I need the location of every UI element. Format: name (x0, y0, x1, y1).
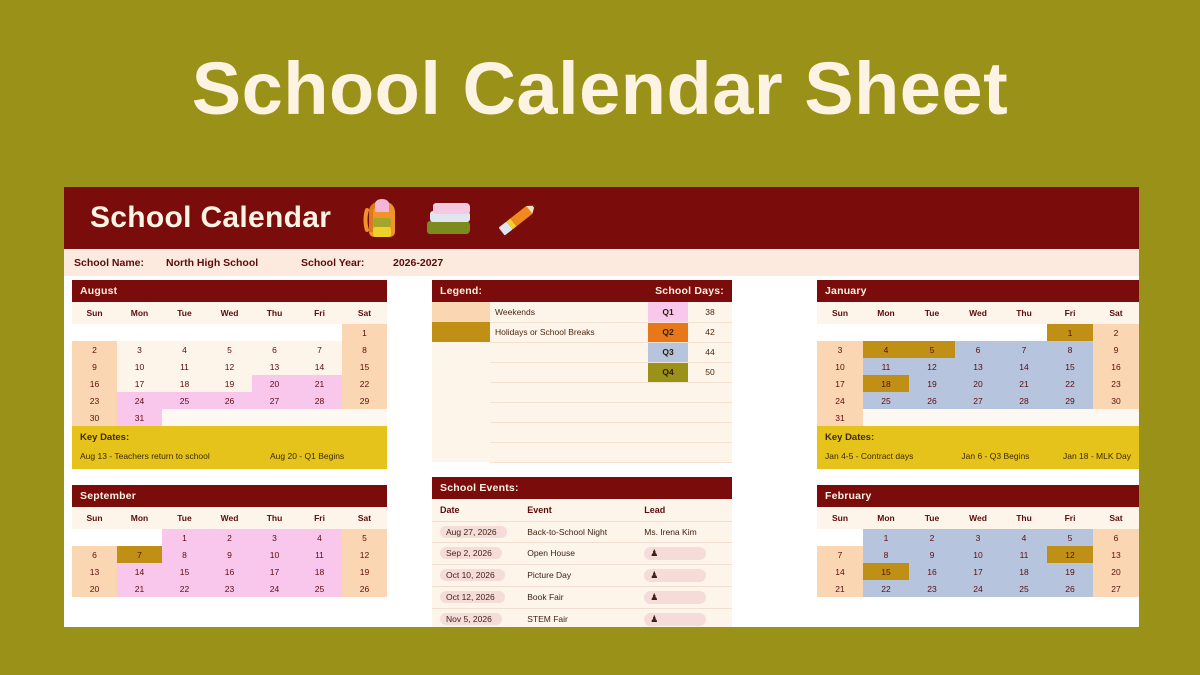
calendar-day-cell[interactable]: 16 (207, 563, 252, 580)
event-date[interactable]: Aug 27, 2026 (432, 521, 519, 542)
weekday-sat: Sat (1093, 507, 1139, 529)
month-header-august: August (72, 280, 387, 302)
date-pill: Sep 2, 2026 (440, 547, 502, 559)
calendar-week-row: 3456789 (817, 341, 1139, 358)
school-days-quarter: Q1 (648, 302, 688, 322)
legend-label (490, 402, 600, 422)
key-dates-january: Key Dates: Jan 4-5 - Contract days Jan 6… (817, 426, 1139, 469)
legend-row (432, 422, 732, 442)
calendar-day-cell[interactable]: 20 (955, 375, 1001, 392)
calendar-january[interactable]: SunMonTueWedThuFriSat 123456789101112131… (817, 302, 1139, 426)
weekday-header-row: SunMonTueWedThuFriSat (72, 507, 387, 529)
calendar-day-cell[interactable]: 30 (72, 409, 117, 426)
calendar-day-cell[interactable]: 1 (162, 529, 207, 546)
events-column-date: Date (432, 499, 519, 522)
calendar-day-cell[interactable]: 2 (207, 529, 252, 546)
calendar-day-cell[interactable]: 14 (1001, 358, 1047, 375)
calendar-empty-cell (117, 529, 162, 546)
weekday-mon: Mon (863, 302, 909, 324)
calendar-day-cell[interactable]: 11 (162, 358, 207, 375)
calendar-empty-cell (162, 324, 207, 341)
calendar-week-row: 20212223242526 (72, 580, 387, 597)
school-days-count: 44 (688, 342, 732, 362)
calendar-empty-cell (72, 324, 117, 341)
calendar-day-cell[interactable]: 12 (909, 358, 955, 375)
weekday-wed: Wed (955, 302, 1001, 324)
legend-spacer (600, 402, 648, 422)
calendar-day-cell[interactable]: 16 (909, 563, 955, 580)
calendar-empty-cell (1093, 409, 1139, 426)
calendar-day-cell[interactable]: 17 (817, 375, 863, 392)
backpack-icon (361, 196, 403, 240)
calendar-day-cell[interactable]: 23 (207, 580, 252, 597)
date-pill: Oct 10, 2026 (440, 569, 505, 581)
calendar-day-cell[interactable]: 23 (909, 580, 955, 597)
school-year-value[interactable]: 2026-2027 (393, 257, 528, 269)
events-column-lead: Lead (636, 499, 732, 522)
legend-swatch (432, 342, 490, 362)
calendar-day-cell[interactable]: 20 (1093, 563, 1139, 580)
calendar-day-cell[interactable]: 17 (117, 375, 162, 392)
legend-spacer (600, 362, 648, 382)
school-events-header: School Events: (432, 477, 732, 499)
table-row[interactable]: Oct 10, 2026Picture Day♟ (432, 564, 732, 586)
legend-swatch (432, 442, 490, 462)
calendar-day-cell[interactable]: 3 (117, 341, 162, 358)
calendar-day-cell[interactable]: 17 (955, 563, 1001, 580)
calendar-day-cell[interactable]: 19 (1047, 563, 1093, 580)
calendar-day-cell[interactable]: 6 (72, 546, 117, 563)
calendar-empty-cell (1001, 324, 1047, 341)
calendar-day-cell[interactable]: 4 (1001, 529, 1047, 546)
calendar-day-cell[interactable]: 11 (863, 358, 909, 375)
legend-swatch (432, 382, 490, 402)
calendar-day-cell[interactable]: 26 (909, 392, 955, 409)
calendar-day-cell[interactable]: 8 (1047, 341, 1093, 358)
key-dates-list: Jan 4-5 - Contract days Jan 6 - Q3 Begin… (825, 451, 1131, 461)
calendar-day-cell[interactable]: 11 (1001, 546, 1047, 563)
table-row[interactable]: Oct 12, 2026Book Fair♟ (432, 586, 732, 608)
calendar-day-cell[interactable]: 24 (955, 580, 1001, 597)
calendar-day-cell[interactable]: 6 (955, 341, 1001, 358)
weekday-tue: Tue (909, 507, 955, 529)
calendar-day-cell[interactable]: 6 (1093, 529, 1139, 546)
school-days-count: 38 (688, 302, 732, 322)
school-days-quarter: Q3 (648, 342, 688, 362)
calendar-day-cell[interactable]: 18 (162, 375, 207, 392)
event-name[interactable]: Picture Day (519, 564, 636, 586)
calendar-day-cell[interactable]: 16 (1093, 358, 1139, 375)
calendar-day-cell[interactable]: 21 (297, 375, 342, 392)
calendar-day-cell[interactable]: 1 (1047, 324, 1093, 341)
event-date[interactable]: Oct 12, 2026 (432, 586, 519, 608)
legend-spacer (600, 382, 648, 402)
left-column: August SunMonTueWedThuFriSat 12345678910… (72, 280, 387, 627)
calendar-empty-cell (817, 324, 863, 341)
calendar-day-cell[interactable]: 15 (342, 358, 387, 375)
weekday-tue: Tue (162, 507, 207, 529)
school-days-quarter: Q4 (648, 362, 688, 382)
page-title: School Calendar Sheet (0, 52, 1200, 126)
weekday-tue: Tue (162, 302, 207, 324)
event-lead[interactable]: ♟ (636, 608, 732, 627)
calendar-day-cell[interactable]: 9 (1093, 341, 1139, 358)
calendar-day-cell[interactable]: 31 (817, 409, 863, 426)
date-pill: Nov 5, 2026 (440, 613, 502, 625)
lead-pill: ♟ (644, 547, 706, 560)
sheet-columns: August SunMonTueWedThuFriSat 12345678910… (64, 276, 1139, 627)
calendar-day-cell[interactable]: 18 (863, 375, 909, 392)
legend-swatch (432, 362, 490, 382)
event-lead[interactable]: Ms. Irena Kim (636, 521, 732, 542)
calendar-day-cell[interactable]: 14 (117, 563, 162, 580)
weekday-wed: Wed (207, 302, 252, 324)
calendar-empty-cell (117, 324, 162, 341)
calendar-day-cell[interactable]: 4 (297, 529, 342, 546)
calendar-day-cell[interactable]: 25 (162, 392, 207, 409)
calendar-empty-cell (909, 409, 955, 426)
calendar-week-row: 24252627282930 (817, 392, 1139, 409)
legend-spacer (600, 422, 648, 442)
table-row[interactable]: Aug 27, 2026Back-to-School NightMs. Iren… (432, 521, 732, 542)
calendar-empty-cell (252, 409, 297, 426)
calendar-day-cell[interactable]: 27 (252, 392, 297, 409)
calendar-day-cell[interactable]: 26 (207, 392, 252, 409)
calendar-day-cell[interactable]: 15 (1047, 358, 1093, 375)
school-name-label: School Name: (74, 257, 166, 269)
calendar-body: 1234567891011121314151617181920212223242… (72, 324, 387, 426)
weekday-thu: Thu (1001, 507, 1047, 529)
column-spacer (72, 469, 387, 485)
banner-icons (361, 196, 543, 240)
calendar-day-cell[interactable]: 12 (342, 546, 387, 563)
key-dates-label: Key Dates: (825, 432, 1131, 443)
calendar-empty-cell (72, 529, 117, 546)
calendar-day-cell[interactable]: 3 (252, 529, 297, 546)
month-header-january: January (817, 280, 1139, 302)
calendar-day-cell[interactable]: 13 (252, 358, 297, 375)
date-pill: Oct 12, 2026 (440, 591, 505, 603)
weekday-fri: Fri (297, 302, 342, 324)
legend-row (432, 382, 732, 402)
calendar-empty-cell (1001, 409, 1047, 426)
calendar-august[interactable]: SunMonTueWedThuFriSat 123456789101112131… (72, 302, 387, 426)
calendar-day-cell[interactable]: 2 (1093, 324, 1139, 341)
calendar-day-cell[interactable]: 10 (955, 546, 1001, 563)
calendar-empty-cell (207, 409, 252, 426)
weekday-sat: Sat (1093, 302, 1139, 324)
legend-row: Q344 (432, 342, 732, 362)
calendar-day-cell[interactable]: 21 (1001, 375, 1047, 392)
school-info-strip: School Name: North High School School Ye… (64, 249, 1139, 276)
school-days-quarter: Q2 (648, 322, 688, 342)
calendar-day-cell[interactable]: 29 (1047, 392, 1093, 409)
calendar-day-cell[interactable]: 21 (117, 580, 162, 597)
calendar-body: 1234567891011121314151617181920212223242… (72, 529, 387, 597)
legend-label (490, 422, 600, 442)
calendar-week-row: 78910111213 (817, 546, 1139, 563)
legend-spacer (600, 442, 648, 462)
calendar-day-cell[interactable]: 20 (252, 375, 297, 392)
calendar-day-cell[interactable]: 12 (207, 358, 252, 375)
calendar-empty-cell (817, 529, 863, 546)
calendar-day-cell[interactable]: 10 (117, 358, 162, 375)
calendar-day-cell[interactable]: 10 (817, 358, 863, 375)
legend-schooldays-table[interactable]: WeekendsQ138Holidays or School BreaksQ24… (432, 302, 732, 463)
school-days-count: 50 (688, 362, 732, 382)
calendar-day-cell[interactable]: 24 (817, 392, 863, 409)
legend-spacer (600, 302, 648, 322)
person-icon: ♟ (650, 570, 658, 580)
events-body: Aug 27, 2026Back-to-School NightMs. Iren… (432, 521, 732, 627)
calendar-day-cell[interactable]: 9 (207, 546, 252, 563)
calendar-week-row: 1 (72, 324, 387, 341)
calendar-day-cell[interactable]: 8 (162, 546, 207, 563)
calendar-day-cell[interactable]: 16 (72, 375, 117, 392)
calendar-day-cell[interactable]: 21 (817, 580, 863, 597)
calendar-day-cell[interactable]: 31 (117, 409, 162, 426)
month-header-september: September (72, 485, 387, 507)
school-days-quarter (648, 442, 688, 462)
events-column-event: Event (519, 499, 636, 522)
events-header-row: DateEventLead (432, 499, 732, 522)
calendar-week-row: 3031 (72, 409, 387, 426)
calendar-week-row: 6789101112 (72, 546, 387, 563)
weekday-header-row: SunMonTueWedThuFriSat (817, 507, 1139, 529)
school-days-quarter (648, 402, 688, 422)
calendar-day-cell[interactable]: 5 (1047, 529, 1093, 546)
calendar-day-cell[interactable]: 4 (162, 341, 207, 358)
calendar-day-cell[interactable]: 26 (342, 580, 387, 597)
calendar-february[interactable]: SunMonTueWedThuFriSat 123456789101112131… (817, 507, 1139, 597)
weekday-sun: Sun (817, 507, 863, 529)
calendar-day-cell[interactable]: 7 (297, 341, 342, 358)
weekday-sun: Sun (72, 302, 117, 324)
weekday-mon: Mon (117, 507, 162, 529)
table-row[interactable]: Nov 5, 2026STEM Fair♟ (432, 608, 732, 627)
calendar-day-cell[interactable]: 10 (252, 546, 297, 563)
calendar-day-cell[interactable]: 15 (863, 563, 909, 580)
legend-label (490, 382, 600, 402)
calendar-day-cell[interactable]: 28 (297, 392, 342, 409)
calendar-day-cell[interactable]: 25 (297, 580, 342, 597)
calendar-day-cell[interactable]: 22 (162, 580, 207, 597)
legend-label: Weekends (490, 302, 600, 322)
calendar-day-cell[interactable]: 24 (252, 580, 297, 597)
date-pill: Aug 27, 2026 (440, 526, 507, 538)
calendar-day-cell[interactable]: 5 (342, 529, 387, 546)
calendar-day-cell[interactable]: 6 (252, 341, 297, 358)
school-name-value[interactable]: North High School (166, 257, 301, 269)
calendar-day-cell[interactable]: 29 (342, 392, 387, 409)
calendar-day-cell[interactable]: 18 (1001, 563, 1047, 580)
legend-label (490, 442, 600, 462)
school-days-count: 42 (688, 322, 732, 342)
event-date[interactable]: Sep 2, 2026 (432, 542, 519, 564)
weekday-mon: Mon (863, 507, 909, 529)
calendar-week-row: 13141516171819 (72, 563, 387, 580)
legend-swatch (432, 322, 490, 342)
calendar-day-cell[interactable]: 3 (955, 529, 1001, 546)
calendar-week-row: 16171819202122 (72, 375, 387, 392)
school-year-label: School Year: (301, 257, 393, 269)
legend-label: Holidays or School Breaks (490, 322, 600, 342)
weekday-sun: Sun (72, 507, 117, 529)
calendar-day-cell[interactable]: 9 (72, 358, 117, 375)
school-days-count (688, 442, 732, 462)
lead-pill: ♟ (644, 591, 706, 604)
calendar-week-row: 17181920212223 (817, 375, 1139, 392)
calendar-week-row: 12345 (72, 529, 387, 546)
calendar-week-row: 31 (817, 409, 1139, 426)
calendar-day-cell[interactable]: 14 (817, 563, 863, 580)
calendar-day-cell[interactable]: 11 (297, 546, 342, 563)
calendar-body: 1234567891011121314151617181920212223242… (817, 324, 1139, 426)
calendar-day-cell[interactable]: 23 (72, 392, 117, 409)
legend-swatch (432, 302, 490, 322)
calendar-day-cell[interactable]: 15 (162, 563, 207, 580)
calendar-day-cell[interactable]: 17 (252, 563, 297, 580)
sheet-banner: School Calendar (64, 187, 1139, 249)
legend-swatch (432, 402, 490, 422)
calendar-day-cell[interactable]: 3 (817, 341, 863, 358)
calendar-day-cell[interactable]: 13 (72, 563, 117, 580)
calendar-week-row: 123456 (817, 529, 1139, 546)
calendar-empty-cell (863, 409, 909, 426)
calendar-day-cell[interactable]: 12 (1047, 546, 1093, 563)
event-date[interactable]: Oct 10, 2026 (432, 564, 519, 586)
calendar-day-cell[interactable]: 27 (955, 392, 1001, 409)
weekday-sun: Sun (817, 302, 863, 324)
event-date[interactable]: Nov 5, 2026 (432, 608, 519, 627)
calendar-day-cell[interactable]: 14 (297, 358, 342, 375)
calendar-week-row: 14151617181920 (817, 563, 1139, 580)
calendar-day-cell[interactable]: 2 (72, 341, 117, 358)
calendar-day-cell[interactable]: 18 (297, 563, 342, 580)
calendar-day-cell[interactable]: 19 (342, 563, 387, 580)
calendar-day-cell[interactable]: 7 (817, 546, 863, 563)
school-days-header: School Days: (582, 280, 732, 302)
key-date-item: Aug 13 - Teachers return to school (80, 451, 270, 461)
legend-label (490, 342, 600, 362)
calendar-day-cell[interactable]: 22 (863, 580, 909, 597)
month-header-february: February (817, 485, 1139, 507)
legend-swatch (432, 422, 490, 442)
calendar-day-cell[interactable]: 8 (342, 341, 387, 358)
pencil-icon (495, 198, 543, 238)
school-events-table[interactable]: DateEventLead Aug 27, 2026Back-to-School… (432, 499, 732, 628)
weekday-mon: Mon (117, 302, 162, 324)
calendar-week-row: 2345678 (72, 341, 387, 358)
calendar-sheet: School Calendar (64, 187, 1139, 627)
calendar-day-cell[interactable]: 1 (342, 324, 387, 341)
weekday-wed: Wed (207, 507, 252, 529)
calendar-day-cell[interactable]: 5 (207, 341, 252, 358)
legend-spacer (600, 342, 648, 362)
calendar-day-cell[interactable]: 30 (1093, 392, 1139, 409)
legend-schooldays-headers: Legend: School Days: (432, 280, 732, 302)
event-lead[interactable]: ♟ (636, 542, 732, 564)
weekday-tue: Tue (909, 302, 955, 324)
weekday-thu: Thu (252, 507, 297, 529)
calendar-day-cell[interactable]: 13 (955, 358, 1001, 375)
calendar-day-cell[interactable]: 19 (207, 375, 252, 392)
column-gap (732, 280, 817, 627)
calendar-day-cell[interactable]: 4 (863, 341, 909, 358)
key-dates-august: Key Dates: Aug 13 - Teachers return to s… (72, 426, 387, 469)
calendar-september[interactable]: SunMonTueWedThuFriSat 123456789101112131… (72, 507, 387, 597)
books-icon (425, 201, 473, 235)
legend-row (432, 442, 732, 462)
calendar-empty-cell (252, 324, 297, 341)
weekday-thu: Thu (1001, 302, 1047, 324)
key-date-item: Aug 20 - Q1 Begins (270, 451, 344, 461)
calendar-day-cell[interactable]: 23 (1093, 375, 1139, 392)
event-lead[interactable]: ♟ (636, 586, 732, 608)
person-icon: ♟ (650, 548, 658, 558)
calendar-day-cell[interactable]: 13 (1093, 546, 1139, 563)
calendar-day-cell[interactable]: 22 (342, 375, 387, 392)
event-name[interactable]: Book Fair (519, 586, 636, 608)
weekday-header-row: SunMonTueWedThuFriSat (817, 302, 1139, 324)
event-name[interactable]: Back-to-School Night (519, 521, 636, 542)
calendar-empty-cell (909, 324, 955, 341)
weekday-fri: Fri (1047, 302, 1093, 324)
calendar-body: 1234567891011121314151617181920212223242… (817, 529, 1139, 597)
calendar-day-cell[interactable]: 7 (1001, 341, 1047, 358)
calendar-day-cell[interactable]: 2 (909, 529, 955, 546)
calendar-day-cell[interactable]: 22 (1047, 375, 1093, 392)
calendar-day-cell[interactable]: 9 (909, 546, 955, 563)
lead-pill: ♟ (644, 613, 706, 626)
key-dates-list: Aug 13 - Teachers return to school Aug 2… (80, 451, 379, 461)
event-name[interactable]: Open House (519, 542, 636, 564)
weekday-fri: Fri (1047, 507, 1093, 529)
calendar-empty-cell (955, 409, 1001, 426)
weekday-header-row: SunMonTueWedThuFriSat (72, 302, 387, 324)
event-lead[interactable]: ♟ (636, 564, 732, 586)
calendar-day-cell[interactable]: 25 (1001, 580, 1047, 597)
calendar-empty-cell (207, 324, 252, 341)
calendar-day-cell[interactable]: 28 (1001, 392, 1047, 409)
legend-row: Q450 (432, 362, 732, 382)
calendar-day-cell[interactable]: 27 (1093, 580, 1139, 597)
legend-label (490, 362, 600, 382)
calendar-day-cell[interactable]: 19 (909, 375, 955, 392)
calendar-day-cell[interactable]: 7 (117, 546, 162, 563)
calendar-day-cell[interactable]: 20 (72, 580, 117, 597)
calendar-day-cell[interactable]: 24 (117, 392, 162, 409)
legend-row (432, 402, 732, 422)
calendar-empty-cell (297, 409, 342, 426)
calendar-day-cell[interactable]: 25 (863, 392, 909, 409)
weekday-fri: Fri (297, 507, 342, 529)
event-name[interactable]: STEM Fair (519, 608, 636, 627)
key-date-item: Jan 18 - MLK Day (1063, 451, 1131, 461)
calendar-day-cell[interactable]: 26 (1047, 580, 1093, 597)
legend-header: Legend: (432, 280, 582, 302)
weekday-sat: Sat (342, 507, 387, 529)
calendar-day-cell[interactable]: 1 (863, 529, 909, 546)
person-icon: ♟ (650, 592, 658, 602)
table-row[interactable]: Sep 2, 2026Open House♟ (432, 542, 732, 564)
calendar-empty-cell (342, 409, 387, 426)
banner-title: School Calendar (90, 201, 331, 235)
calendar-empty-cell (1047, 409, 1093, 426)
calendar-day-cell[interactable]: 8 (863, 546, 909, 563)
school-days-count (688, 422, 732, 442)
calendar-day-cell[interactable]: 5 (909, 341, 955, 358)
